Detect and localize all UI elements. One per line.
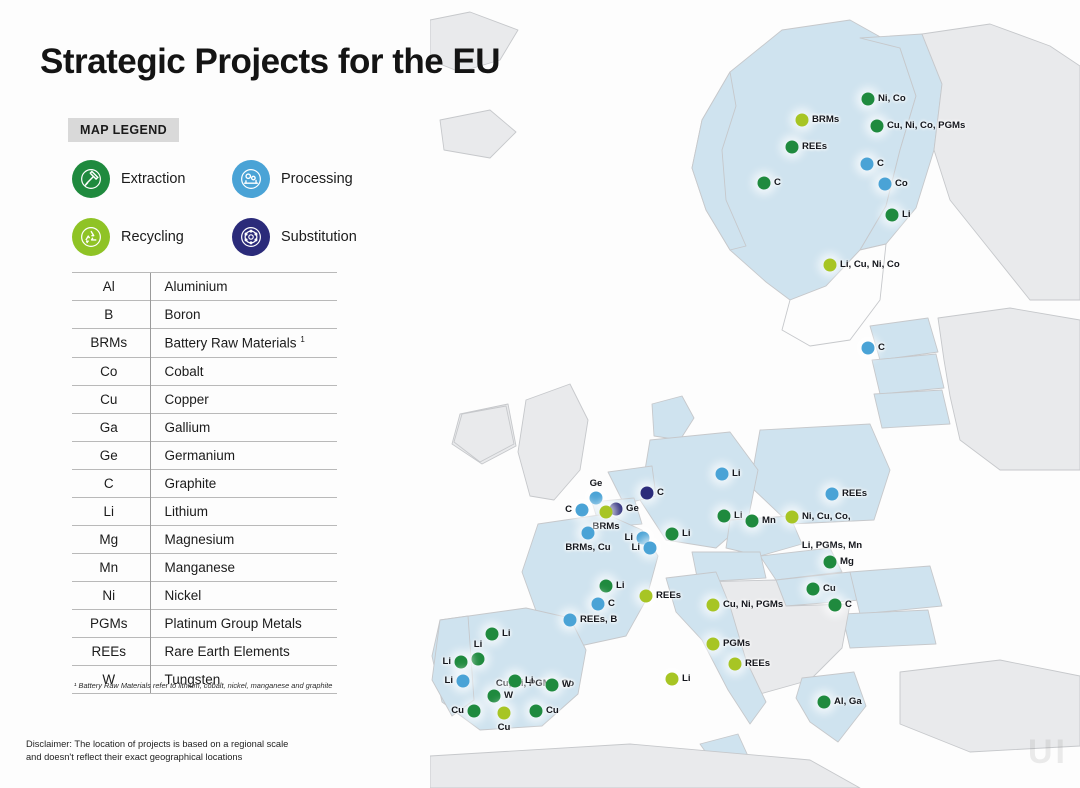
map-marker-label: REEs [656,590,681,601]
abbr-name-superscript: 1 [300,335,304,344]
abbr-name: Nickel [150,581,337,609]
map-marker-dot[interactable] [707,599,720,612]
abbr-symbol: Ge [72,441,150,469]
abbr-name: Manganese [150,553,337,581]
abbr-symbol: B [72,301,150,329]
map-marker-dot[interactable] [582,527,595,540]
legend-item-recycling[interactable]: Recycling [72,218,232,256]
map-marker-label: C [565,504,572,515]
abbr-name-text: Copper [165,392,209,407]
map-marker-label: BRMs, Cu [565,542,610,553]
abbr-name-text: Cobalt [165,364,204,379]
map-marker-label: C [878,342,885,353]
table-row: CGraphite [72,469,337,497]
recycling-icon [72,218,110,256]
abbr-name-text: Manganese [165,560,236,575]
map-marker-dot[interactable] [879,178,892,191]
map-marker-label: Cu [546,705,559,716]
map-marker-dot[interactable] [472,653,485,666]
abbr-symbol: Cu [72,385,150,413]
abbr-symbol: Mn [72,553,150,581]
map-marker-dot[interactable] [644,542,657,555]
abbr-name: Battery Raw Materials 1 [150,329,337,358]
legend-label-processing: Processing [281,171,353,187]
map-marker-label: Ge [626,503,639,514]
abbr-symbol: Mg [72,525,150,553]
map-marker-label: Al, Ga [834,696,862,707]
abbr-name-text: Platinum Group Metals [165,616,302,631]
table-row: MnManganese [72,553,337,581]
table-row: PGMsPlatinum Group Metals [72,609,337,637]
map-marker-dot[interactable] [530,705,543,718]
map-marker-dot[interactable] [871,120,884,133]
abbreviation-footnote: ¹ Battery Raw Materials refer to lithium… [74,681,354,691]
map-marker-label: REEs, B [580,614,617,625]
map-marker-dot[interactable] [826,488,839,501]
table-row: CuCopper [72,385,337,413]
abbr-name-text: Rare Earth Elements [165,644,290,659]
map-marker-label: REEs [842,488,867,499]
map-marker-label: Li [682,528,691,539]
map-marker-label: Li [502,628,511,639]
map-marker-dot[interactable] [486,628,499,641]
abbr-name: Rare Earth Elements [150,637,337,665]
legend-item-extraction[interactable]: Extraction [72,160,232,198]
map-marker-dot[interactable] [729,658,742,671]
abbreviation-table: AlAluminiumBBoronBRMsBattery Raw Materia… [72,272,337,694]
map-marker-label: Li [682,673,691,684]
map-marker-label: W [562,679,571,690]
map-marker-dot[interactable] [564,614,577,627]
legend-label-recycling: Recycling [121,229,184,245]
map-marker-label: Li, PGMs, Mn [802,540,862,551]
map-marker-dot[interactable] [829,599,842,612]
map-legend-items: Extraction Processing [72,160,402,256]
map-marker-label: REEs [745,658,770,669]
map-marker-dot[interactable] [468,705,481,718]
abbr-name-text: Magnesium [165,532,235,547]
map-marker-label: W [504,690,513,701]
abbr-name: Gallium [150,413,337,441]
abbr-symbol: Al [72,273,150,301]
abbr-name: Magnesium [150,525,337,553]
abbr-name: Cobalt [150,357,337,385]
processing-icon [232,160,270,198]
map-marker-label: Cu [823,583,836,594]
map-marker-dot[interactable] [786,511,799,524]
map-marker-dot[interactable] [455,656,468,669]
abbr-name: Copper [150,385,337,413]
map-marker-label: Cu [498,722,511,733]
map-marker-dot[interactable] [666,673,679,686]
europe-map[interactable]: Ni, CoCu, Ni, Co, PGMsBRMsREEsCCCoLiLi, … [430,0,1080,788]
map-marker-dot[interactable] [498,707,511,720]
map-marker-label: Li [616,580,625,591]
page-title: Strategic Projects for the EU [40,42,500,82]
map-marker-label: C [877,158,884,169]
abbr-name-text: Graphite [165,476,217,491]
abbr-symbol: BRMs [72,329,150,358]
table-row: NiNickel [72,581,337,609]
map-marker-label: Li [525,675,534,686]
legend-label-substitution: Substitution [281,229,357,245]
abbr-name-text: Lithium [165,504,209,519]
map-marker-label: Ge [590,478,603,489]
disclaimer-text: Disclaimer: The location of projects is … [26,738,306,765]
map-basemap [430,0,1080,788]
map-marker-dot[interactable] [592,598,605,611]
abbr-symbol: Co [72,357,150,385]
map-marker-label: C [608,598,615,609]
abbr-name-text: Battery Raw Materials [165,336,297,351]
abbr-name-text: Germanium [165,448,236,463]
map-marker-dot[interactable] [886,209,899,222]
map-marker-dot[interactable] [796,114,809,127]
abbr-name: Germanium [150,441,337,469]
substitution-icon [232,218,270,256]
map-marker-dot[interactable] [457,675,470,688]
abbr-name-text: Gallium [165,420,211,435]
map-marker-label: Cu, Ni, PGMs [723,599,783,610]
table-row: MgMagnesium [72,525,337,553]
watermark: UI [1028,733,1068,772]
map-marker-dot[interactable] [786,141,799,154]
map-marker-label: Co [895,178,908,189]
map-marker-label: Li [902,209,911,220]
legend-item-substitution[interactable]: Substitution [232,218,402,256]
map-marker-dot[interactable] [824,556,837,569]
map-marker-label: Li [734,510,743,521]
abbr-symbol: PGMs [72,609,150,637]
map-marker-dot[interactable] [707,638,720,651]
map-marker-dot[interactable] [718,510,731,523]
map-marker-dot[interactable] [641,487,654,500]
table-row: GaGallium [72,413,337,441]
table-row: REEsRare Earth Elements [72,637,337,665]
infographic-root: Ni, CoCu, Ni, Co, PGMsBRMsREEsCCCoLiLi, … [0,0,1080,788]
table-row: AlAluminium [72,273,337,301]
map-marker-label: BRMs [812,114,839,125]
abbr-name: Aluminium [150,273,337,301]
abbr-symbol: Ga [72,413,150,441]
table-row: BRMsBattery Raw Materials 1 [72,329,337,358]
map-marker-dot[interactable] [758,177,771,190]
table-row: GeGermanium [72,441,337,469]
map-marker-dot[interactable] [488,690,501,703]
abbr-name: Boron [150,301,337,329]
abbr-symbol: C [72,469,150,497]
map-marker-label: Li, Cu, Ni, Co [840,259,900,270]
abbr-name: Graphite [150,469,337,497]
map-marker-label: Li [732,468,741,479]
abbr-symbol: Ni [72,581,150,609]
map-marker-dot[interactable] [824,259,837,272]
map-marker-label: Li [444,675,453,686]
abbr-symbol: Li [72,497,150,525]
map-marker-label: C [774,177,781,188]
map-marker-dot[interactable] [600,580,613,593]
table-row: LiLithium [72,497,337,525]
map-marker-dot[interactable] [861,158,874,171]
map-marker-dot[interactable] [590,492,603,505]
map-marker-label: Li [631,542,640,553]
abbr-name: Lithium [150,497,337,525]
abbr-name: Platinum Group Metals [150,609,337,637]
map-marker-label: Cu [451,705,464,716]
map-marker-label: Cu, Ni, Co, PGMs [887,120,965,131]
map-marker-dot[interactable] [546,679,559,692]
map-marker-label: C [657,487,664,498]
map-marker-label: Mn [762,515,776,526]
abbr-name-text: Aluminium [165,279,228,294]
map-marker-dot[interactable] [716,468,729,481]
map-marker-label: Mg [840,556,854,567]
map-marker-label: Ni, Co [878,93,906,104]
table-row: CoCobalt [72,357,337,385]
map-marker-dot[interactable] [666,528,679,541]
map-marker-dot[interactable] [862,342,875,355]
map-marker-dot[interactable] [807,583,820,596]
map-marker-label: PGMs [723,638,750,649]
legend-label-extraction: Extraction [121,171,185,187]
extraction-icon [72,160,110,198]
map-legend-chip: MAP LEGEND [68,118,179,142]
map-marker-label: Ni, Cu, Co, [802,511,851,522]
map-marker-label: REEs [802,141,827,152]
map-marker-label: C [845,599,852,610]
map-marker-dot[interactable] [576,504,589,517]
legend-item-processing[interactable]: Processing [232,160,402,198]
map-marker-dot[interactable] [818,696,831,709]
map-marker-label: Li [474,639,483,650]
map-marker-label: BRMs [592,521,619,532]
map-marker-label: Li [442,656,451,667]
map-marker-dot[interactable] [600,506,613,519]
map-marker-dot[interactable] [640,590,653,603]
map-marker-dot[interactable] [746,515,759,528]
abbr-symbol: REEs [72,637,150,665]
table-row: BBoron [72,301,337,329]
abbr-name-text: Nickel [165,588,202,603]
map-marker-dot[interactable] [862,93,875,106]
map-marker-dot[interactable] [509,675,522,688]
abbr-name-text: Boron [165,307,201,322]
